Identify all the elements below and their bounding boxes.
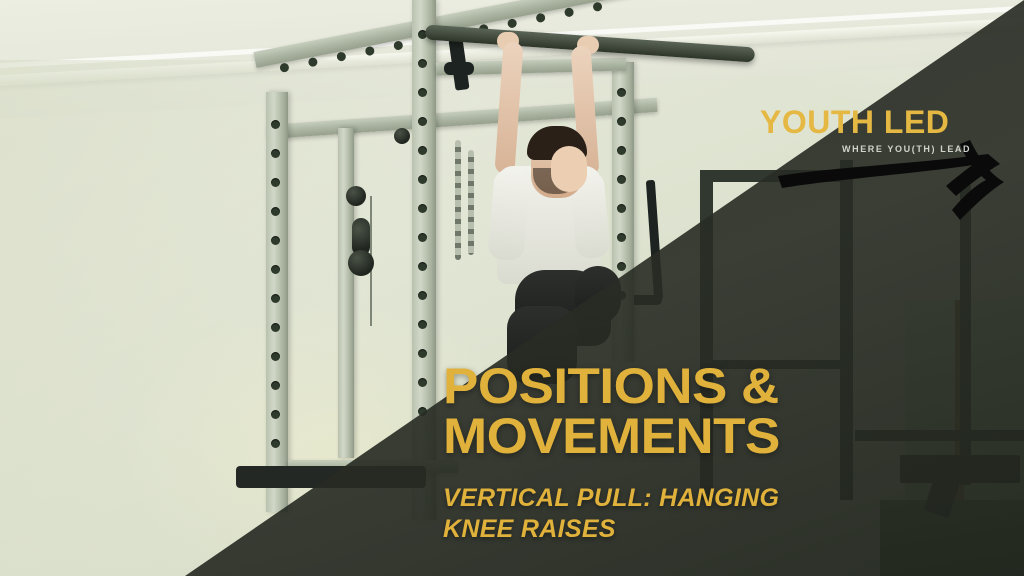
knee — [575, 266, 621, 324]
title-line-2: MOVEMENTS — [443, 412, 1024, 462]
face — [551, 146, 587, 192]
subtitle-line-2: KNEE RAISES — [443, 514, 1003, 545]
subtitle-block: VERTICAL PULL: HANGING KNEE RAISES — [443, 483, 1003, 546]
rack-post-center — [338, 128, 354, 458]
rack-post-right-holes — [418, 30, 427, 416]
rack-post-left-holes — [271, 120, 280, 448]
athlete — [455, 18, 695, 378]
brand-logo[interactable]: YOUTH LED WHERE YOU(TH) LEAD — [760, 106, 1010, 216]
brand-tagline: WHERE YOU(TH) LEAD — [842, 144, 971, 154]
thumbnail-frame: YOUTH LED WHERE YOU(TH) LEAD POSITIONS &… — [0, 0, 1024, 576]
arm-left — [494, 41, 523, 174]
title-block: POSITIONS & MOVEMENTS VERTICAL PULL: HAN… — [443, 362, 1003, 546]
pulley-small — [394, 128, 410, 144]
subtitle-line-1: VERTICAL PULL: HANGING — [443, 483, 1003, 514]
title-line-1: POSITIONS & — [443, 362, 1024, 412]
rack-base-platform — [236, 466, 426, 488]
pulley-top — [346, 186, 366, 206]
pulley-wheel — [348, 250, 374, 276]
